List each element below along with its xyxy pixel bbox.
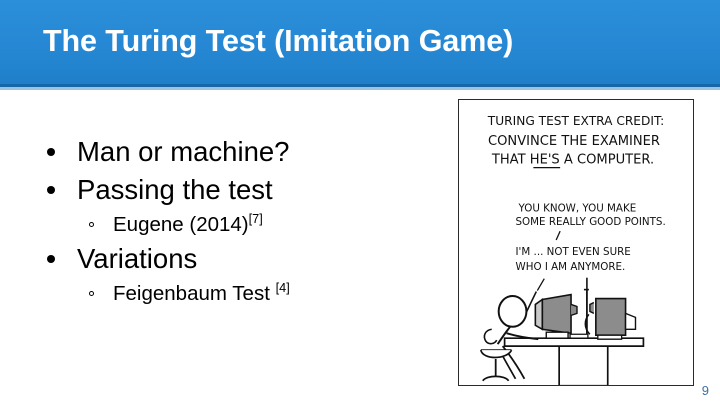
far-monitor-side-vent (590, 302, 594, 313)
page-title: The Turing Test (Imitation Game) (43, 21, 683, 61)
near-monitor-back-vent (571, 304, 577, 315)
list-item-label: Variations (77, 243, 197, 274)
comic-speech-top-line-2: SOME REALLY GOOD POINTS. (516, 216, 666, 228)
list-item-label: Eugene (2014) (113, 213, 249, 236)
filled-disc-bullet-icon (47, 186, 55, 194)
speech-pointer-top (556, 231, 560, 240)
list-item: Variations (40, 240, 440, 278)
hollow-circle-bullet-icon (89, 291, 94, 296)
slide-canvas: The Turing Test (Imitation Game) Man or … (0, 0, 720, 405)
list-item: Man or machine? (40, 133, 440, 171)
citation-reference: [4] (276, 280, 290, 295)
near-monitor-screen (535, 300, 542, 330)
xkcd-comic-image: TURING TEST EXTRA CREDIT: CONVINCE THE E… (458, 99, 694, 386)
far-monitor-body (596, 299, 626, 336)
comic-caption-line-2: CONVINCE THE EXAMINER (488, 134, 660, 149)
list-item-sub: Eugene (2014)[7] (40, 209, 440, 240)
hollow-circle-bullet-icon (89, 222, 94, 227)
speech-pointer-bottom-left (537, 279, 544, 291)
comic-speech-bottom-line-1: I'M ... NOT EVEN SURE (516, 246, 631, 258)
header-divider-light (0, 87, 720, 90)
person-head (499, 296, 527, 327)
list-item: Passing the test (40, 171, 440, 209)
bullet-list: Man or machine? Passing the test Eugene … (40, 133, 440, 309)
far-monitor-screen-right (626, 313, 636, 329)
comic-speech-bottom-line-2: WHO I AM ANYMORE. (516, 261, 626, 273)
comic-speech-top-line-1: YOU KNOW, YOU MAKE (517, 202, 636, 214)
chair-seat (481, 350, 512, 357)
list-item-label: Feigenbaum Test (113, 282, 276, 305)
filled-disc-bullet-icon (47, 255, 55, 263)
comic-caption-line-1: TURING TEST EXTRA CREDIT: (487, 114, 664, 128)
comic-caption-line-3: THAT HE'S A COMPUTER. (491, 153, 654, 168)
chair-base (483, 376, 509, 380)
list-item-label: Man or machine? (77, 136, 289, 167)
filled-disc-bullet-icon (47, 148, 55, 156)
comic-scene (481, 289, 644, 385)
list-item-label: Passing the test (77, 174, 273, 205)
near-monitor-stand (546, 332, 568, 338)
page-number: 9 (702, 383, 709, 398)
far-monitor-stand (598, 335, 622, 339)
citation-reference: [7] (249, 211, 263, 226)
comic-artwork: TURING TEST EXTRA CREDIT: CONVINCE THE E… (459, 100, 693, 385)
list-item-sub: Feigenbaum Test [4] (40, 278, 440, 309)
near-monitor-body (542, 295, 571, 334)
far-monitor (585, 299, 635, 340)
office-chair (481, 329, 512, 381)
chair-backrest (484, 329, 496, 343)
keyboard (570, 334, 588, 338)
near-monitor (535, 295, 577, 339)
desk-surface (505, 338, 644, 346)
